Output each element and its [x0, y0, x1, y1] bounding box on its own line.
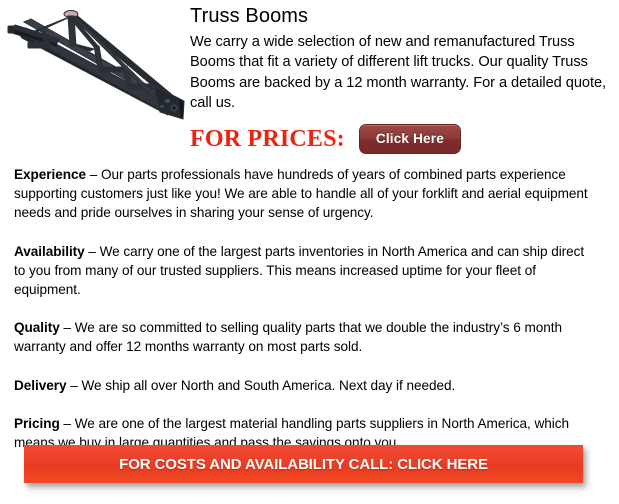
feature-dash: –: [60, 416, 75, 431]
feature-dash: –: [85, 244, 100, 259]
product-intro-section: Truss Booms We carry a wide selection of…: [0, 0, 619, 162]
features-list: Experience – Our parts professionals hav…: [14, 165, 597, 452]
feature-quality: Quality – We are so committed to selling…: [14, 318, 597, 356]
feature-text: We ship all over North and South America…: [81, 378, 455, 393]
feature-label: Pricing: [14, 416, 60, 431]
feature-delivery: Delivery – We ship all over North and So…: [14, 376, 597, 395]
feature-text: Our parts professionals have hundreds of…: [14, 167, 588, 220]
intro-text-block: Truss Booms We carry a wide selection of…: [190, 4, 613, 114]
feature-dash: –: [86, 167, 101, 182]
feature-dash: –: [67, 378, 82, 393]
for-prices-row: FOR PRICES: Click Here: [190, 124, 461, 154]
feature-label: Experience: [14, 167, 86, 182]
page-title: Truss Booms: [190, 4, 613, 28]
for-prices-label: FOR PRICES:: [190, 126, 345, 152]
truss-boom-illustration: [2, 2, 186, 128]
feature-availability: Availability – We carry one of the large…: [14, 242, 597, 300]
click-here-button[interactable]: Click Here: [359, 124, 461, 154]
feature-dash: –: [60, 320, 75, 335]
feature-label: Availability: [14, 244, 85, 259]
intro-paragraph: We carry a wide selection of new and rem…: [190, 32, 613, 114]
feature-text: We are so committed to selling quality p…: [14, 320, 562, 354]
feature-text: We carry one of the largest parts invent…: [14, 244, 584, 297]
product-image-truss-boom: [2, 2, 186, 128]
feature-experience: Experience – Our parts professionals hav…: [14, 165, 597, 223]
feature-label: Delivery: [14, 378, 67, 393]
feature-label: Quality: [14, 320, 60, 335]
cta-call-banner[interactable]: FOR COSTS AND AVAILABILITY CALL: CLICK H…: [24, 445, 583, 483]
